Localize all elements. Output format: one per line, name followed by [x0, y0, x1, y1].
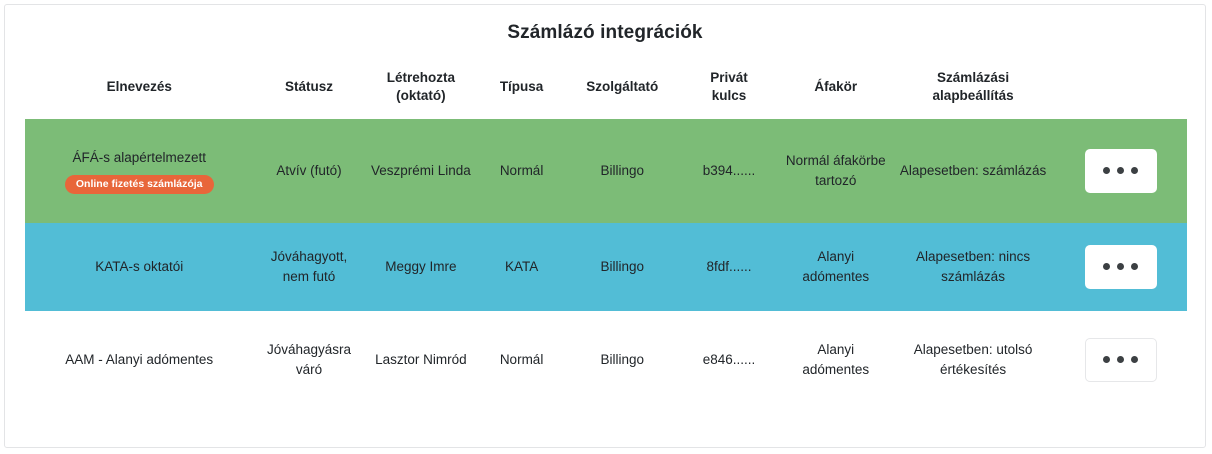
column-header-type-line1: Típusa	[500, 79, 544, 94]
column-header-author-line1: Létrehozta	[387, 70, 455, 85]
integration-name: AAM - Alanyi adómentes	[29, 350, 249, 370]
page-title: Számlázó integrációk	[5, 5, 1205, 44]
row-gutter-right	[1187, 119, 1206, 223]
kebab-dot-icon	[1131, 167, 1138, 174]
kebab-dot-icon	[1103, 167, 1110, 174]
integrations-table: Elnevezés Státusz Létrehozta (oktató) Tí…	[5, 61, 1206, 409]
row-actions-menu-button[interactable]	[1085, 149, 1157, 193]
cell-actions	[1054, 119, 1186, 223]
cell-vat: Alanyi adómentes	[780, 311, 892, 409]
cell-author: Meggy Imre	[365, 223, 477, 311]
column-header-type: Típusa	[477, 61, 566, 119]
row-gutter-right	[1187, 311, 1206, 409]
table-row[interactable]: KATA-s oktatói Jóváhagyott, nem futó Meg…	[5, 223, 1206, 311]
cell-type: KATA	[477, 223, 566, 311]
integrations-table-wrapper: Elnevezés Státusz Létrehozta (oktató) Tí…	[5, 61, 1205, 447]
row-actions-menu-button[interactable]	[1085, 338, 1157, 382]
kebab-dot-icon	[1103, 263, 1110, 270]
column-header-private-key-line2: kulcs	[712, 88, 747, 103]
column-header-vat: Áfakör	[780, 61, 892, 119]
cell-private-key: b394......	[678, 119, 780, 223]
cell-vat: Normál áfakörbe tartozó	[780, 119, 892, 223]
column-header-status: Státusz	[253, 61, 365, 119]
cell-name: KATA-s oktatói	[25, 223, 253, 311]
column-header-author-line2: (oktató)	[396, 88, 446, 103]
invoicing-integrations-card: Számlázó integrációk Elneve	[4, 4, 1206, 448]
row-gutter-left	[5, 119, 25, 223]
cell-status: Jóváhagyott, nem futó	[253, 223, 365, 311]
kebab-dot-icon	[1131, 356, 1138, 363]
column-header-billing-default-line1: Számlázási	[937, 70, 1009, 85]
row-gutter-left	[5, 311, 25, 409]
column-header-actions	[1054, 61, 1186, 119]
column-header-author: Létrehozta (oktató)	[365, 61, 477, 119]
integration-name: ÁFÁ-s alapértelmezett	[29, 148, 249, 168]
kebab-dot-icon	[1117, 263, 1124, 270]
status-badge: Online fizetés számlázója	[65, 175, 214, 194]
column-header-billing-default: Számlázási alapbeállítás	[892, 61, 1055, 119]
cell-billing-default: Alapesetben: utolsó értékesítés	[892, 311, 1055, 409]
table-body: ÁFÁ-s alapértelmezett Online fizetés szá…	[5, 119, 1206, 409]
table-row[interactable]: ÁFÁ-s alapértelmezett Online fizetés szá…	[5, 119, 1206, 223]
cell-name: ÁFÁ-s alapértelmezett Online fizetés szá…	[25, 119, 253, 223]
table-row[interactable]: AAM - Alanyi adómentes Jóváhagyásra váró…	[5, 311, 1206, 409]
row-actions-menu-button[interactable]	[1085, 245, 1157, 289]
column-header-name-line1: Elnevezés	[107, 79, 172, 94]
cell-actions	[1054, 311, 1186, 409]
header-gutter-left	[5, 61, 25, 119]
cell-author: Veszprémi Linda	[365, 119, 477, 223]
header-gutter-right	[1187, 61, 1206, 119]
cell-name: AAM - Alanyi adómentes	[25, 311, 253, 409]
cell-status: Jóváhagyásra váró	[253, 311, 365, 409]
cell-private-key: e846......	[678, 311, 780, 409]
kebab-dot-icon	[1131, 263, 1138, 270]
column-header-billing-default-line2: alapbeállítás	[933, 88, 1014, 103]
column-header-provider-line1: Szolgáltató	[586, 79, 658, 94]
integration-name: KATA-s oktatói	[29, 257, 249, 277]
row-gutter-left	[5, 223, 25, 311]
cell-billing-default: Alapesetben: nincs számlázás	[892, 223, 1055, 311]
cell-provider: Billingo	[566, 119, 678, 223]
cell-type: Normál	[477, 311, 566, 409]
column-header-private-key: Privát kulcs	[678, 61, 780, 119]
table-header: Elnevezés Státusz Létrehozta (oktató) Tí…	[5, 61, 1206, 119]
cell-vat: Alanyi adómentes	[780, 223, 892, 311]
cell-author: Lasztor Nimród	[365, 311, 477, 409]
kebab-dot-icon	[1103, 356, 1110, 363]
cell-provider: Billingo	[566, 311, 678, 409]
column-header-name: Elnevezés	[25, 61, 253, 119]
column-header-provider: Szolgáltató	[566, 61, 678, 119]
column-header-vat-line1: Áfakör	[814, 79, 857, 94]
cell-private-key: 8fdf......	[678, 223, 780, 311]
column-header-private-key-line1: Privát	[710, 70, 748, 85]
row-gutter-right	[1187, 223, 1206, 311]
table-header-row: Elnevezés Státusz Létrehozta (oktató) Tí…	[5, 61, 1206, 119]
column-header-status-line1: Státusz	[285, 79, 333, 94]
kebab-dot-icon	[1117, 167, 1124, 174]
cell-status: Atvív (futó)	[253, 119, 365, 223]
cell-type: Normál	[477, 119, 566, 223]
cell-billing-default: Alapesetben: számlázás	[892, 119, 1055, 223]
cell-actions	[1054, 223, 1186, 311]
cell-provider: Billingo	[566, 223, 678, 311]
kebab-dot-icon	[1117, 356, 1124, 363]
